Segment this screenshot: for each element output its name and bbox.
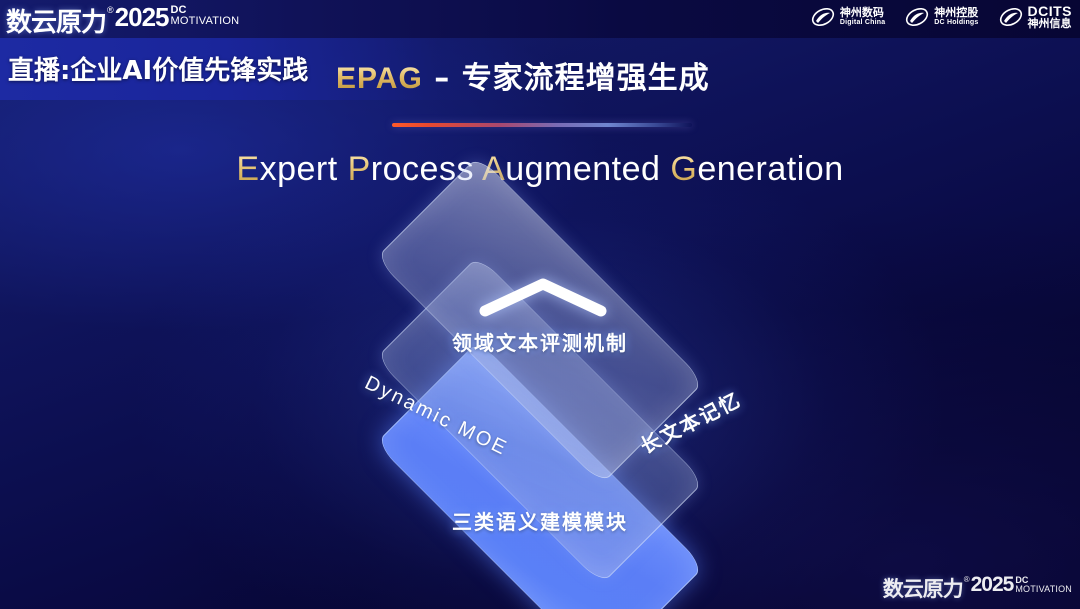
partner-name-en: Digital China bbox=[840, 19, 885, 26]
watermark-brand-year: 2025 bbox=[971, 573, 1014, 597]
title-divider bbox=[392, 123, 692, 127]
live-session-label: 直播:企业AI价值先锋实践 bbox=[8, 50, 308, 87]
partner-text: 神州控股 DC Holdings bbox=[934, 8, 978, 27]
partner-logos: 神州数码 Digital China 神州控股 DC Holdings bbox=[811, 4, 1072, 30]
diagram-label-top: 领域文本评测机制 bbox=[452, 327, 628, 356]
slide-canvas: 数云原力 ® 2025 DC MOTIVATION 神州数码 Digital C… bbox=[0, 0, 1080, 609]
swirl-logo-icon bbox=[999, 5, 1023, 29]
brand-name-cn: 数云原力 bbox=[6, 2, 106, 39]
partner-name-cn: 神州信息 bbox=[1028, 19, 1073, 31]
title-en-rest-augmented: ugmented bbox=[505, 150, 670, 188]
brand-logo: 数云原力 ® 2025 DC MOTIVATION bbox=[6, 2, 239, 39]
partner-logo-dc-holdings: 神州控股 DC Holdings bbox=[905, 5, 978, 29]
watermark-registered-mark: ® bbox=[964, 575, 970, 584]
title-acronym: EPAG bbox=[336, 62, 423, 95]
partner-text: 神州数码 Digital China bbox=[840, 8, 885, 27]
partner-logo-dcits: DCITS 神州信息 bbox=[999, 4, 1073, 30]
brand-year: 2025 bbox=[115, 2, 169, 33]
partner-text: DCITS 神州信息 bbox=[1028, 4, 1073, 30]
chevron-up-icon bbox=[477, 275, 609, 317]
diagram-label-bottom: 三类语义建模模块 bbox=[452, 506, 628, 535]
title-en-cap-p: P bbox=[348, 150, 371, 188]
layered-architecture-diagram: 领域文本评测机制 Dynamic MOE 长文本记忆 三类语义建模模块 bbox=[280, 215, 800, 590]
brand-registered-mark: ® bbox=[107, 5, 114, 15]
page-title: EPAG – 专家流程增强生成 bbox=[336, 53, 710, 97]
title-subtitle-cn: 专家流程增强生成 bbox=[462, 61, 710, 96]
brand-dc-motivation: DC MOTIVATION bbox=[171, 5, 240, 27]
footer-watermark-logo: 数云原力 ® 2025 DC MOTIVATION bbox=[883, 573, 1072, 603]
title-en-rest-generation: eneration bbox=[697, 150, 843, 188]
watermark-dc-motivation: DC MOTIVATION bbox=[1015, 576, 1072, 594]
title-dash: – bbox=[423, 61, 462, 96]
partner-name-cn: 神州数码 bbox=[840, 8, 885, 20]
swirl-logo-icon bbox=[811, 5, 835, 29]
brand-motivation-label: MOTIVATION bbox=[171, 16, 240, 27]
title-en-cap-g: G bbox=[670, 150, 697, 188]
partner-name-cn: 神州控股 bbox=[934, 8, 978, 20]
watermark-motivation-label: MOTIVATION bbox=[1015, 585, 1072, 594]
partner-name-en: DCITS bbox=[1028, 4, 1073, 19]
partner-name-en: DC Holdings bbox=[934, 19, 978, 26]
title-en-cap-e: E bbox=[236, 150, 259, 188]
title-english: Expert Process Augmented Generation bbox=[0, 150, 1080, 189]
swirl-logo-icon bbox=[905, 5, 929, 29]
partner-logo-digital-china: 神州数码 Digital China bbox=[811, 5, 885, 29]
watermark-brand-name-cn: 数云原力 bbox=[883, 573, 963, 603]
title-en-rest-expert: xpert bbox=[260, 150, 348, 188]
